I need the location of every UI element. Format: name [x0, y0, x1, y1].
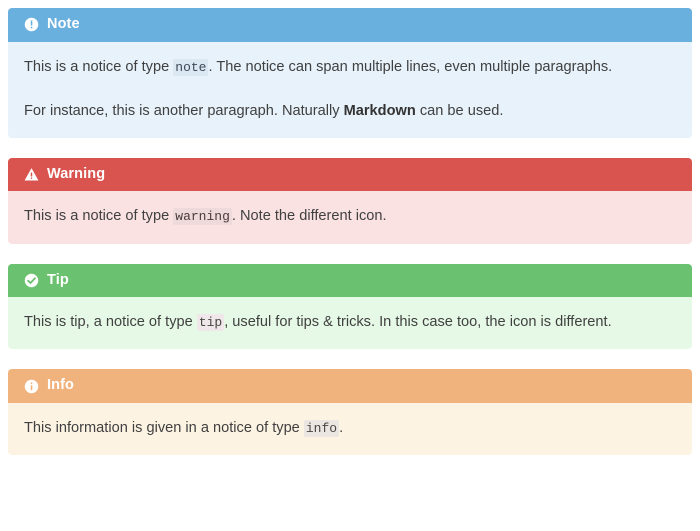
admonition-paragraph: For instance, this is another paragraph.…: [24, 100, 676, 122]
paragraph-text: .: [339, 420, 343, 436]
paragraph-text: For instance, this is another paragraph.…: [24, 103, 344, 119]
admonition-paragraph: This is a notice of type note. The notic…: [24, 56, 676, 78]
paragraph-text: This is tip, a notice of type: [24, 314, 197, 330]
admonition-body-tip: This is tip, a notice of type tip, usefu…: [8, 297, 692, 349]
admonition-header-tip: Tip: [8, 264, 692, 298]
paragraph-text: can be used.: [416, 103, 504, 119]
admonition-title: Tip: [47, 271, 69, 291]
paragraph-text: This is a notice of type: [24, 208, 173, 224]
check-circle-icon: [24, 273, 39, 288]
paragraph-text: . The notice can span multiple lines, ev…: [208, 59, 612, 75]
admonition-warning: WarningThis is a notice of type warning.…: [8, 158, 692, 244]
info-circle-icon: [24, 379, 39, 394]
paragraph-text: This is a notice of type: [24, 59, 173, 75]
admonition-title: Info: [47, 376, 74, 396]
admonition-title: Note: [47, 15, 80, 35]
admonition-paragraph: This is a notice of type warning. Note t…: [24, 205, 676, 227]
admonition-title: Warning: [47, 165, 105, 185]
paragraph-text: . Note the different icon.: [232, 208, 387, 224]
paragraph-text: This information is given in a notice of…: [24, 420, 304, 436]
bold-text: Markdown: [344, 103, 416, 119]
inline-code: info: [304, 420, 339, 437]
admonition-body-warning: This is a notice of type warning. Note t…: [8, 191, 692, 243]
exclamation-triangle-icon: [24, 167, 39, 182]
admonition-list: NoteThis is a notice of type note. The n…: [0, 0, 700, 455]
admonition-header-note: Note: [8, 8, 692, 42]
admonition-tip: TipThis is tip, a notice of type tip, us…: [8, 264, 692, 350]
admonition-paragraph: This is tip, a notice of type tip, usefu…: [24, 311, 676, 333]
inline-code: note: [173, 59, 208, 76]
admonition-body-note: This is a notice of type note. The notic…: [8, 42, 692, 138]
admonition-header-info: Info: [8, 369, 692, 403]
paragraph-text: , useful for tips & tricks. In this case…: [224, 314, 611, 330]
admonition-info: InfoThis information is given in a notic…: [8, 369, 692, 455]
admonition-paragraph: This information is given in a notice of…: [24, 417, 676, 439]
exclamation-circle-icon: [24, 17, 39, 32]
inline-code: warning: [173, 208, 232, 225]
admonition-body-info: This information is given in a notice of…: [8, 403, 692, 455]
admonition-header-warning: Warning: [8, 158, 692, 192]
admonition-note: NoteThis is a notice of type note. The n…: [8, 8, 692, 138]
inline-code: tip: [197, 314, 224, 331]
